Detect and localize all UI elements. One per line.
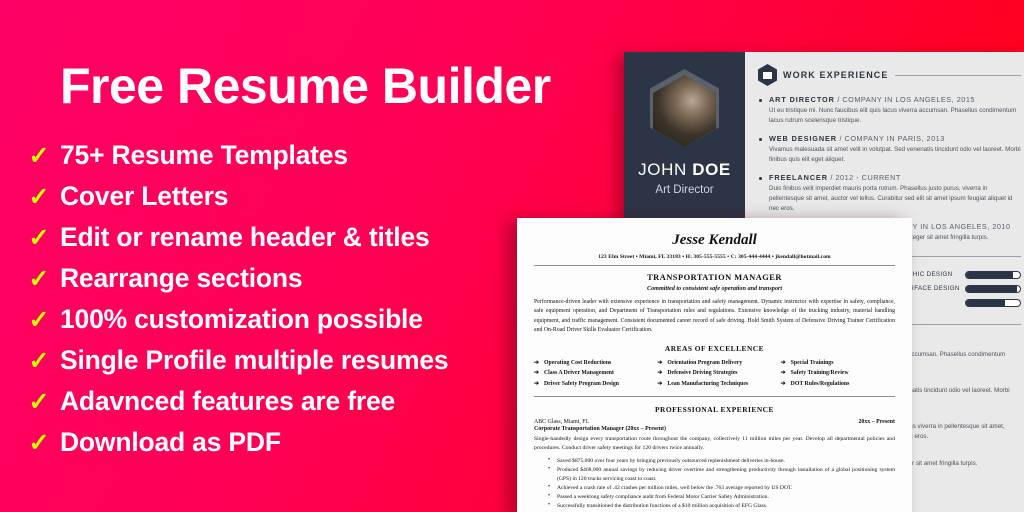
feature-label: 100% customization possible [60, 304, 423, 335]
white-resume-tagline: Committed to consistent safe operation a… [534, 285, 895, 292]
feature-label: 75+ Resume Templates [60, 140, 348, 171]
area-item: ➔ DOT Rules/Regulations [781, 379, 895, 390]
area-item: ➔ Operating Cost Reductions [534, 358, 648, 369]
check-icon: ✓ [18, 431, 60, 456]
achievement-item: Passed a weeklong safety compliance audi… [548, 493, 895, 502]
white-resume-title: TRANSPORTATION MANAGER [534, 273, 895, 282]
list-item: ✓ Single Profile multiple resumes [18, 345, 518, 386]
divider [534, 396, 895, 397]
area-label: Lean Manufacturing Techniques [667, 379, 748, 390]
white-resume-summary: Performance-driven leader with extensive… [534, 298, 895, 336]
list-item: ✓ Rearrange sections [18, 263, 518, 304]
skill-progress-bar [965, 271, 1021, 279]
arrow-icon: ➔ [657, 379, 663, 390]
area-item: ➔ Defensive Driving Strategies [657, 368, 771, 379]
first-name: JOHN [638, 160, 687, 179]
briefcase-icon [758, 64, 777, 86]
last-name: DOE [692, 160, 731, 179]
arrow-icon: ➔ [781, 368, 787, 379]
feature-label: Cover Letters [60, 181, 228, 212]
experience-entry: ABC Glass, Miami, FL 20xx – Present Corp… [534, 419, 895, 512]
divider [895, 75, 1021, 76]
dark-resume-name: JOHN DOE [631, 160, 738, 180]
work-meta: / COMPANY IN LOS ANGELES, 2015 [837, 95, 975, 104]
arrow-icon: ➔ [534, 358, 540, 369]
achievement-item: Produced $468,000 annual savings by redu… [548, 466, 895, 484]
work-heading: WORK EXPERIENCE [783, 70, 889, 80]
work-desc: Duis finibus velit imperdiet mauris port… [769, 184, 1021, 213]
feature-label: Adavnced features are free [60, 386, 395, 417]
page-title: Free Resume Builder [60, 57, 551, 115]
areas-column: ➔ Operating Cost Reductions ➔ Class A Dr… [534, 358, 648, 390]
work-meta: / 2012 - CURRENT [830, 173, 900, 182]
area-label: Class A Driver Management [544, 368, 614, 379]
achievement-list: Saved $875,000 over four years by bringi… [534, 457, 895, 512]
work-title: WEB DESIGNER [769, 134, 837, 143]
check-icon: ✓ [18, 226, 60, 251]
check-icon: ✓ [18, 267, 60, 292]
white-resume-name: Jesse Kendall [534, 232, 895, 249]
resume-preview-white[interactable]: Jesse Kendall 123 Elm Street • Miami, FL… [517, 218, 912, 512]
experience-entry-header: ABC Glass, Miami, FL 20xx – Present [534, 419, 895, 425]
feature-label: Rearrange sections [60, 263, 302, 294]
skill-progress-bar [965, 285, 1021, 293]
area-label: Orientation Program Delivery [667, 358, 742, 369]
achievement-item: Saved $875,000 over four years by bringi… [548, 457, 895, 466]
area-item: ➔ Special Trainings [781, 358, 895, 369]
work-entry: FREELANCER / 2012 - CURRENT Duis finibus… [758, 173, 1021, 213]
arrow-icon: ➔ [781, 358, 787, 369]
check-icon: ✓ [18, 185, 60, 210]
list-item: ✓ Cover Letters [18, 181, 518, 222]
work-entry-header: FREELANCER / 2012 - CURRENT [769, 173, 1021, 182]
areas-grid: ➔ Operating Cost Reductions ➔ Class A Dr… [534, 358, 895, 390]
arrow-icon: ➔ [781, 379, 787, 390]
areas-column: ➔ Special Trainings ➔ Safety Training/Re… [781, 358, 895, 390]
area-label: Safety Training/Review [791, 368, 849, 379]
area-item: ➔ Lean Manufacturing Techniques [657, 379, 771, 390]
achievement-item: Successfully transitioned the distributi… [548, 502, 895, 511]
work-meta: / COMPANY IN PARIS, 2013 [840, 134, 945, 143]
check-icon: ✓ [18, 390, 60, 415]
arrow-icon: ➔ [657, 358, 663, 369]
area-label: Defensive Driving Strategies [667, 368, 737, 379]
area-label: Special Trainings [791, 358, 834, 369]
list-item: ✓ Download as PDF [18, 427, 518, 468]
avatar-frame [650, 69, 719, 147]
check-icon: ✓ [18, 349, 60, 374]
work-entry-header: ART DIRECTOR / COMPANY IN LOS ANGELES, 2… [769, 95, 1021, 104]
area-label: DOT Rules/Regulations [791, 379, 850, 390]
company-name: ABC Glass, Miami, FL [534, 419, 589, 425]
area-item: ➔ Safety Training/Review [781, 368, 895, 379]
list-item: ✓ Adavnced features are free [18, 386, 518, 427]
job-role: Corporate Transportation Manager (20xx –… [534, 426, 895, 432]
feature-label: Download as PDF [60, 427, 281, 458]
area-item: ➔ Driver Safety Program Design [534, 379, 648, 390]
job-description: Single-handedly design every transportat… [534, 435, 895, 453]
work-desc: Ut eu tristique mi. Nunc faucibus elit q… [769, 106, 1021, 125]
achievement-item: Achieved a crash rate of .42 crashes per… [548, 484, 895, 493]
areas-column: ➔ Orientation Program Delivery ➔ Defensi… [657, 358, 771, 390]
area-label: Driver Safety Program Design [544, 379, 619, 390]
work-title: ART DIRECTOR [769, 95, 835, 104]
list-item: ✓ 75+ Resume Templates [18, 140, 518, 181]
arrow-icon: ➔ [534, 368, 540, 379]
skill-progress-bar [965, 299, 1021, 307]
divider [534, 265, 895, 266]
arrow-icon: ➔ [657, 368, 663, 379]
work-entry: WEB DESIGNER / COMPANY IN PARIS, 2013 Vi… [758, 134, 1021, 164]
work-section-header: WORK EXPERIENCE [758, 64, 1021, 86]
dark-resume-role: Art Director [631, 184, 738, 196]
areas-heading: AREAS OF EXCELLENCE [534, 344, 895, 353]
work-desc: Vivamus malesuada sit amet velit in volu… [769, 145, 1021, 164]
promo-banner: Free Resume Builder ✓ 75+ Resume Templat… [0, 0, 1024, 512]
arrow-icon: ➔ [534, 379, 540, 390]
feature-list: ✓ 75+ Resume Templates ✓ Cover Letters ✓… [18, 140, 518, 468]
area-item: ➔ Class A Driver Management [534, 368, 648, 379]
area-item: ➔ Orientation Program Delivery [657, 358, 771, 369]
work-entry: ART DIRECTOR / COMPANY IN LOS ANGELES, 2… [758, 95, 1021, 125]
experience-heading: PROFESSIONAL EXPERIENCE [534, 405, 895, 414]
avatar [653, 75, 716, 147]
feature-label: Single Profile multiple resumes [60, 345, 448, 376]
white-resume-contact: 123 Elm Street • Miami, FL 33183 • H: 30… [534, 254, 895, 260]
employment-dates: 20xx – Present [858, 419, 895, 425]
check-icon: ✓ [18, 144, 60, 169]
check-icon: ✓ [18, 308, 60, 333]
area-label: Operating Cost Reductions [544, 358, 611, 369]
list-item: ✓ 100% customization possible [18, 304, 518, 345]
work-title: FREELANCER [769, 173, 828, 182]
feature-label: Edit or rename header & titles [60, 222, 430, 253]
list-item: ✓ Edit or rename header & titles [18, 222, 518, 263]
work-entry-header: WEB DESIGNER / COMPANY IN PARIS, 2013 [769, 134, 1021, 143]
